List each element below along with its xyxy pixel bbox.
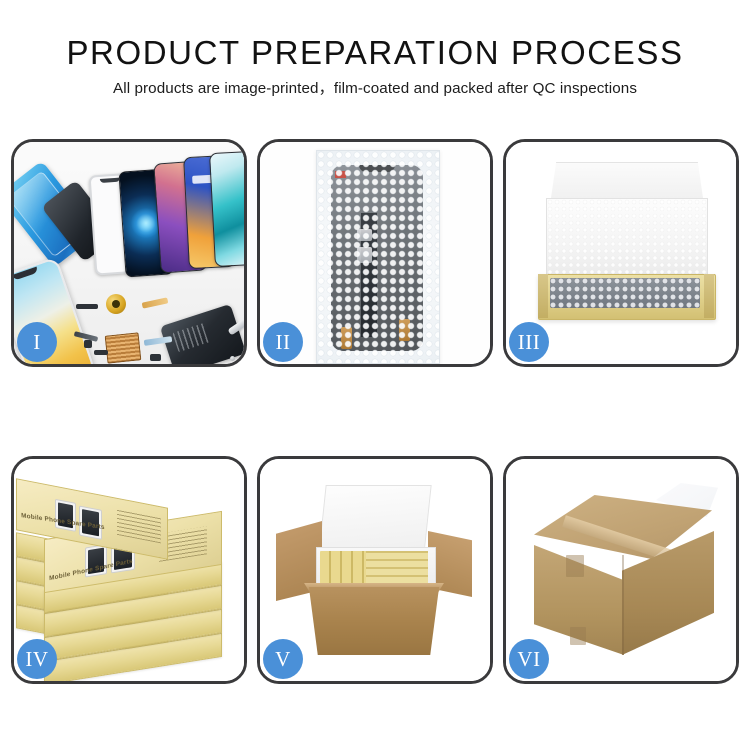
bubble-wrap-bag xyxy=(316,150,440,364)
process-step-panel-1: I xyxy=(11,139,247,367)
process-step-panel-2: II xyxy=(257,139,493,367)
process-step-panel-4: Mobile Phone Spare Parts Mobile Phone Sp… xyxy=(11,456,247,684)
carton-front-panel xyxy=(300,587,448,655)
process-step-panel-3: III xyxy=(503,139,739,367)
bubble-wrapped-screens xyxy=(550,278,700,308)
step-badge-6: VI xyxy=(509,639,549,679)
step-badge-5: V xyxy=(263,639,303,679)
phone-screen-teal-wallpaper xyxy=(209,151,244,267)
white-foam-sheet xyxy=(546,198,708,282)
box-art-phone xyxy=(55,499,76,532)
screw-part xyxy=(238,362,243,364)
header: PRODUCT PREPARATION PROCESS All products… xyxy=(0,0,750,98)
carton-seam xyxy=(622,555,624,655)
tray-left-wall xyxy=(538,274,548,318)
spare-part-dot xyxy=(150,354,161,361)
spare-part-dot xyxy=(84,340,92,348)
tray-right-wall xyxy=(704,274,714,318)
step-badge-3: III xyxy=(509,322,549,362)
step-badge-2: II xyxy=(263,322,303,362)
process-step-panel-6: VI xyxy=(503,456,739,684)
speaker-coil-part xyxy=(106,294,126,314)
screw-part xyxy=(230,356,235,361)
product-preparation-process-page: PRODUCT PREPARATION PROCESS All products… xyxy=(0,0,750,750)
box-art-text-lines xyxy=(117,509,161,544)
foam-lid xyxy=(318,485,431,555)
spare-part-dot xyxy=(76,304,98,309)
process-step-panel-5: V xyxy=(257,456,493,684)
spare-part-dot xyxy=(94,350,108,355)
bubble-texture xyxy=(317,151,439,363)
step-badge-4: IV xyxy=(17,639,57,679)
foam-texture xyxy=(547,199,707,281)
page-title: PRODUCT PREPARATION PROCESS xyxy=(0,0,750,71)
process-steps-grid: I II xyxy=(11,139,739,684)
connector-chip-part xyxy=(105,332,142,363)
step-badge-1: I xyxy=(17,322,57,362)
carton-flap-mark xyxy=(570,627,586,645)
page-subtitle: All products are image-printed，film-coat… xyxy=(0,71,750,98)
carton-flap-mark xyxy=(566,555,584,577)
